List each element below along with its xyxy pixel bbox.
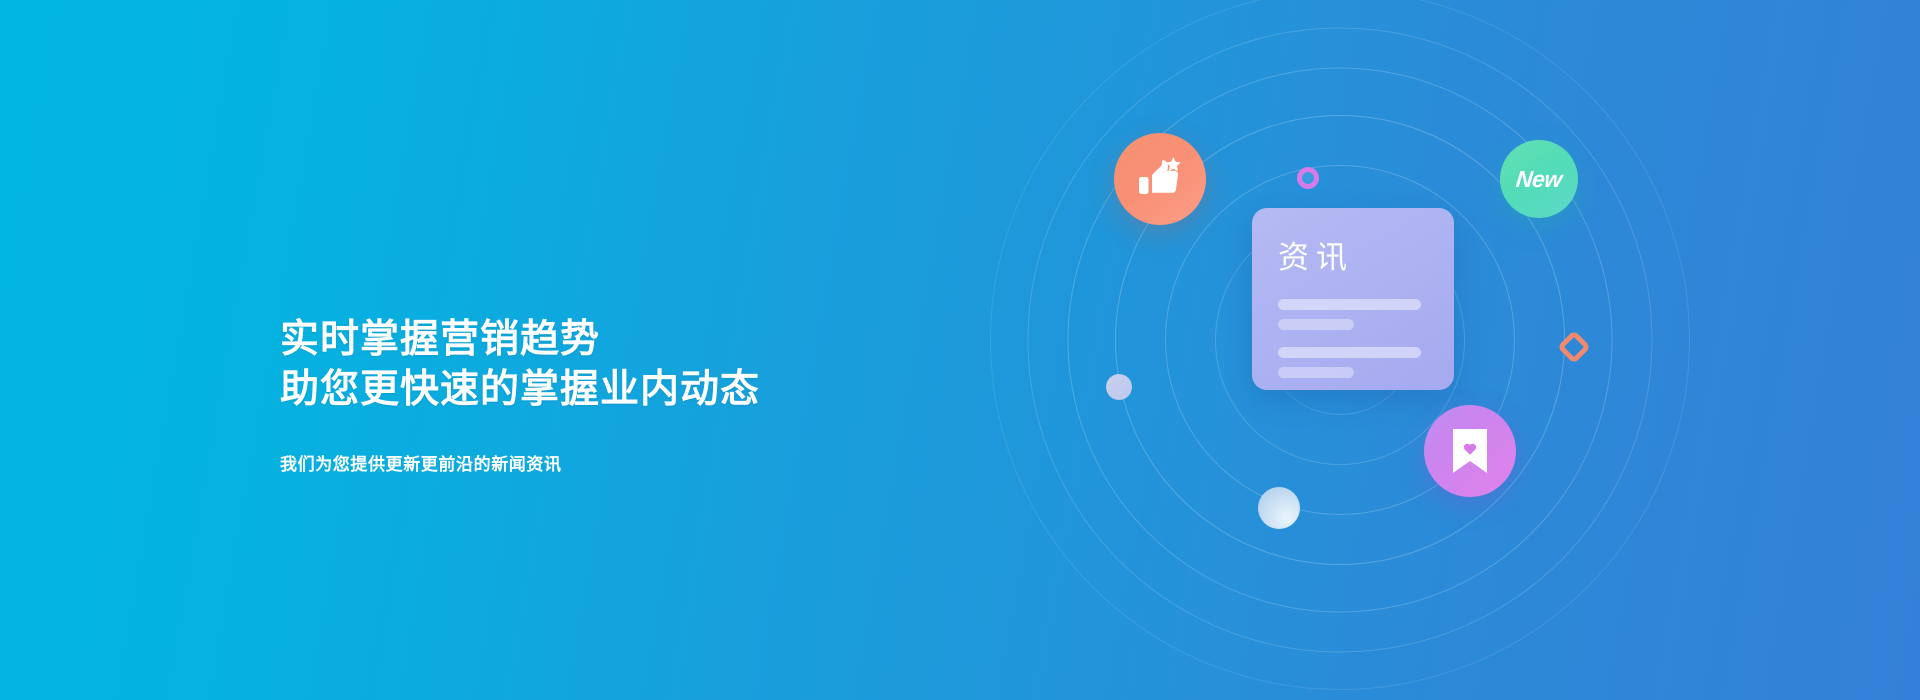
- document-placeholder-line: [1278, 367, 1354, 378]
- thumbs-up-star-icon: [1137, 157, 1183, 201]
- like-badge: [1114, 133, 1206, 225]
- bookmark-badge: [1424, 405, 1516, 497]
- news-hero-banner: 实时掌握营销趋势 助您更快速的掌握业内动态 我们为您提供更新更前沿的新闻资讯 资…: [0, 0, 1920, 700]
- headline-line-1: 实时掌握营销趋势: [280, 315, 1040, 365]
- news-document-card: 资讯: [1252, 208, 1454, 390]
- headline-line-2: 助您更快速的掌握业内动态: [280, 365, 1040, 415]
- document-placeholder-line: [1278, 299, 1421, 310]
- hero-illustration: 资讯 New: [1030, 30, 1650, 650]
- document-placeholder-line: [1278, 347, 1421, 358]
- hero-subtitle: 我们为您提供更新更前沿的新闻资讯: [280, 452, 1040, 478]
- bookmark-heart-icon: [1451, 427, 1489, 475]
- blue-sphere-decoration: [1258, 487, 1300, 529]
- new-badge: New: [1500, 140, 1578, 218]
- document-card-title: 资讯: [1278, 242, 1430, 273]
- lavender-dot-decoration: [1106, 374, 1132, 400]
- hero-copy: 实时掌握营销趋势 助您更快速的掌握业内动态 我们为您提供更新更前沿的新闻资讯: [280, 315, 1040, 477]
- pink-ring-decoration: [1297, 167, 1319, 189]
- document-placeholder-line: [1278, 319, 1354, 330]
- new-badge-label: New: [1515, 166, 1564, 193]
